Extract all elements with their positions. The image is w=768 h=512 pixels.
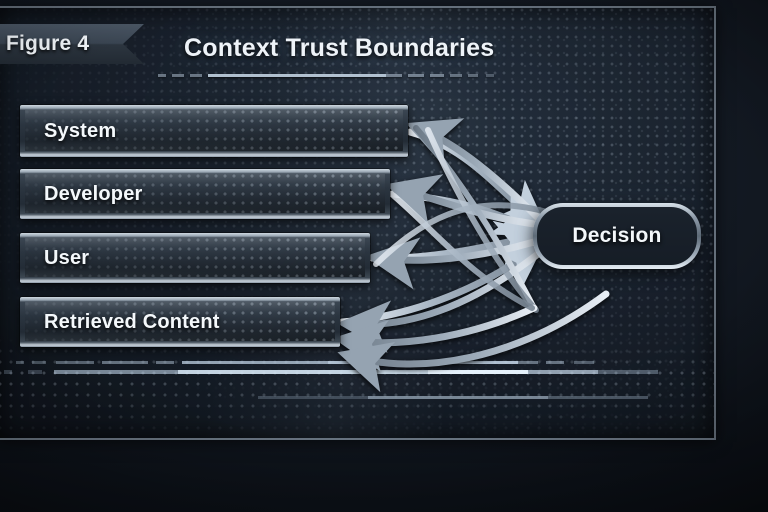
context-bar-label: User (44, 247, 89, 270)
decision-node-label: Decision (572, 224, 661, 248)
edge-developer-lower-strand (394, 196, 532, 308)
edge-decision-to-system (418, 128, 538, 218)
decision-node[interactable]: Decision (533, 203, 701, 269)
title-divider (156, 74, 560, 77)
edge-decision-to-developer (398, 188, 534, 224)
edge-decision-outer-return (350, 294, 606, 364)
figure-title: Context Trust Boundaries (184, 34, 494, 63)
edge-decision-to-retrieved (350, 254, 538, 324)
edge-retrieved-to-decision (342, 248, 536, 322)
context-bar-label: Retrieved Content (44, 311, 220, 334)
diagram-panel: Context Trust Boundaries System Develope… (0, 6, 716, 440)
figure-canvas: Context Trust Boundaries System Develope… (0, 0, 768, 512)
decorative-streak-lower (248, 396, 712, 399)
edge-decision-lower-return (346, 308, 534, 343)
context-bar-label: Developer (44, 183, 143, 206)
context-bar-developer[interactable]: Developer (20, 169, 390, 219)
edge-cross-strand-2 (428, 130, 536, 310)
edge-cross-strand-1 (416, 128, 534, 308)
edge-user-upper-strand (376, 205, 554, 264)
figure-number-label: Figure 4 (6, 32, 89, 56)
halftone-texture-lower (0, 338, 714, 438)
context-bar-retrieved-content[interactable]: Retrieved Content (20, 297, 340, 347)
edge-system-to-decision (410, 132, 538, 222)
decorative-streak-upper (0, 361, 712, 364)
context-bar-label: System (44, 120, 116, 143)
edge-decision-to-user (378, 242, 534, 260)
figure-number-tag: Figure 4 (0, 24, 144, 64)
decorative-streak-mid (0, 370, 712, 374)
edge-developer-to-decision (392, 194, 532, 230)
edge-user-to-decision (372, 236, 534, 258)
context-bar-system[interactable]: System (20, 105, 408, 157)
context-bar-user[interactable]: User (20, 233, 370, 283)
